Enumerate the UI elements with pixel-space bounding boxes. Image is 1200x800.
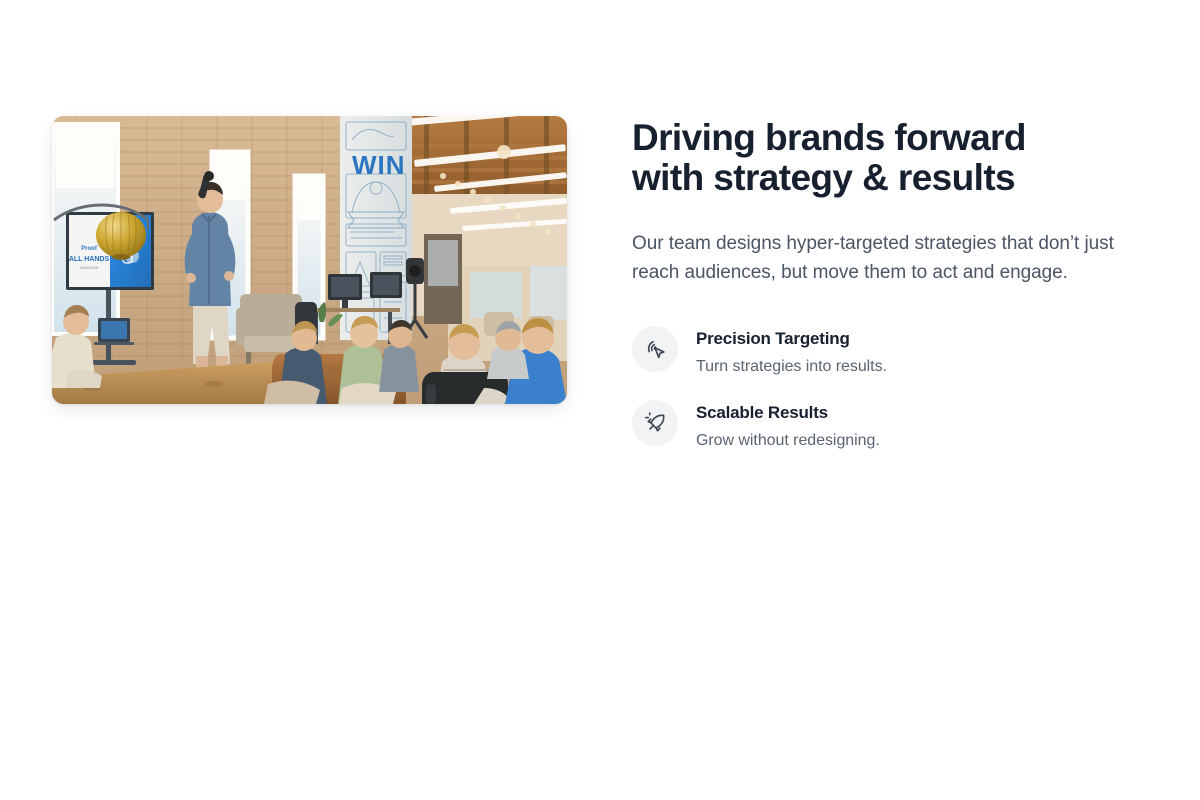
feature-item-scalable-results: Scalable Results Grow without redesignin… (632, 399, 1148, 451)
feature-list: Precision Targeting Turn strategies into… (632, 325, 1148, 451)
text-column: Driving brands forward with strategy & r… (632, 116, 1148, 451)
rocket-launch-icon (632, 400, 678, 446)
landing-page: WIN (0, 0, 1200, 800)
feature-title: Precision Targeting (696, 328, 887, 349)
feature-title: Scalable Results (696, 402, 880, 423)
feature-description: Grow without redesigning. (696, 431, 880, 451)
office-all-hands-meeting-photo: WIN (52, 116, 567, 404)
section-description: Our team designs hyper-targeted strategi… (632, 229, 1148, 287)
feature-item-precision-targeting: Precision Targeting Turn strategies into… (632, 325, 1148, 377)
cursor-click-icon (632, 326, 678, 372)
feature-body: Precision Targeting Turn strategies into… (696, 325, 887, 377)
feature-body: Scalable Results Grow without redesignin… (696, 399, 880, 451)
feature-description: Turn strategies into results. (696, 357, 887, 377)
feature-section: WIN (52, 116, 1148, 451)
page-title: Driving brands forward with strategy & r… (632, 118, 1148, 198)
media-column: WIN (52, 116, 567, 404)
